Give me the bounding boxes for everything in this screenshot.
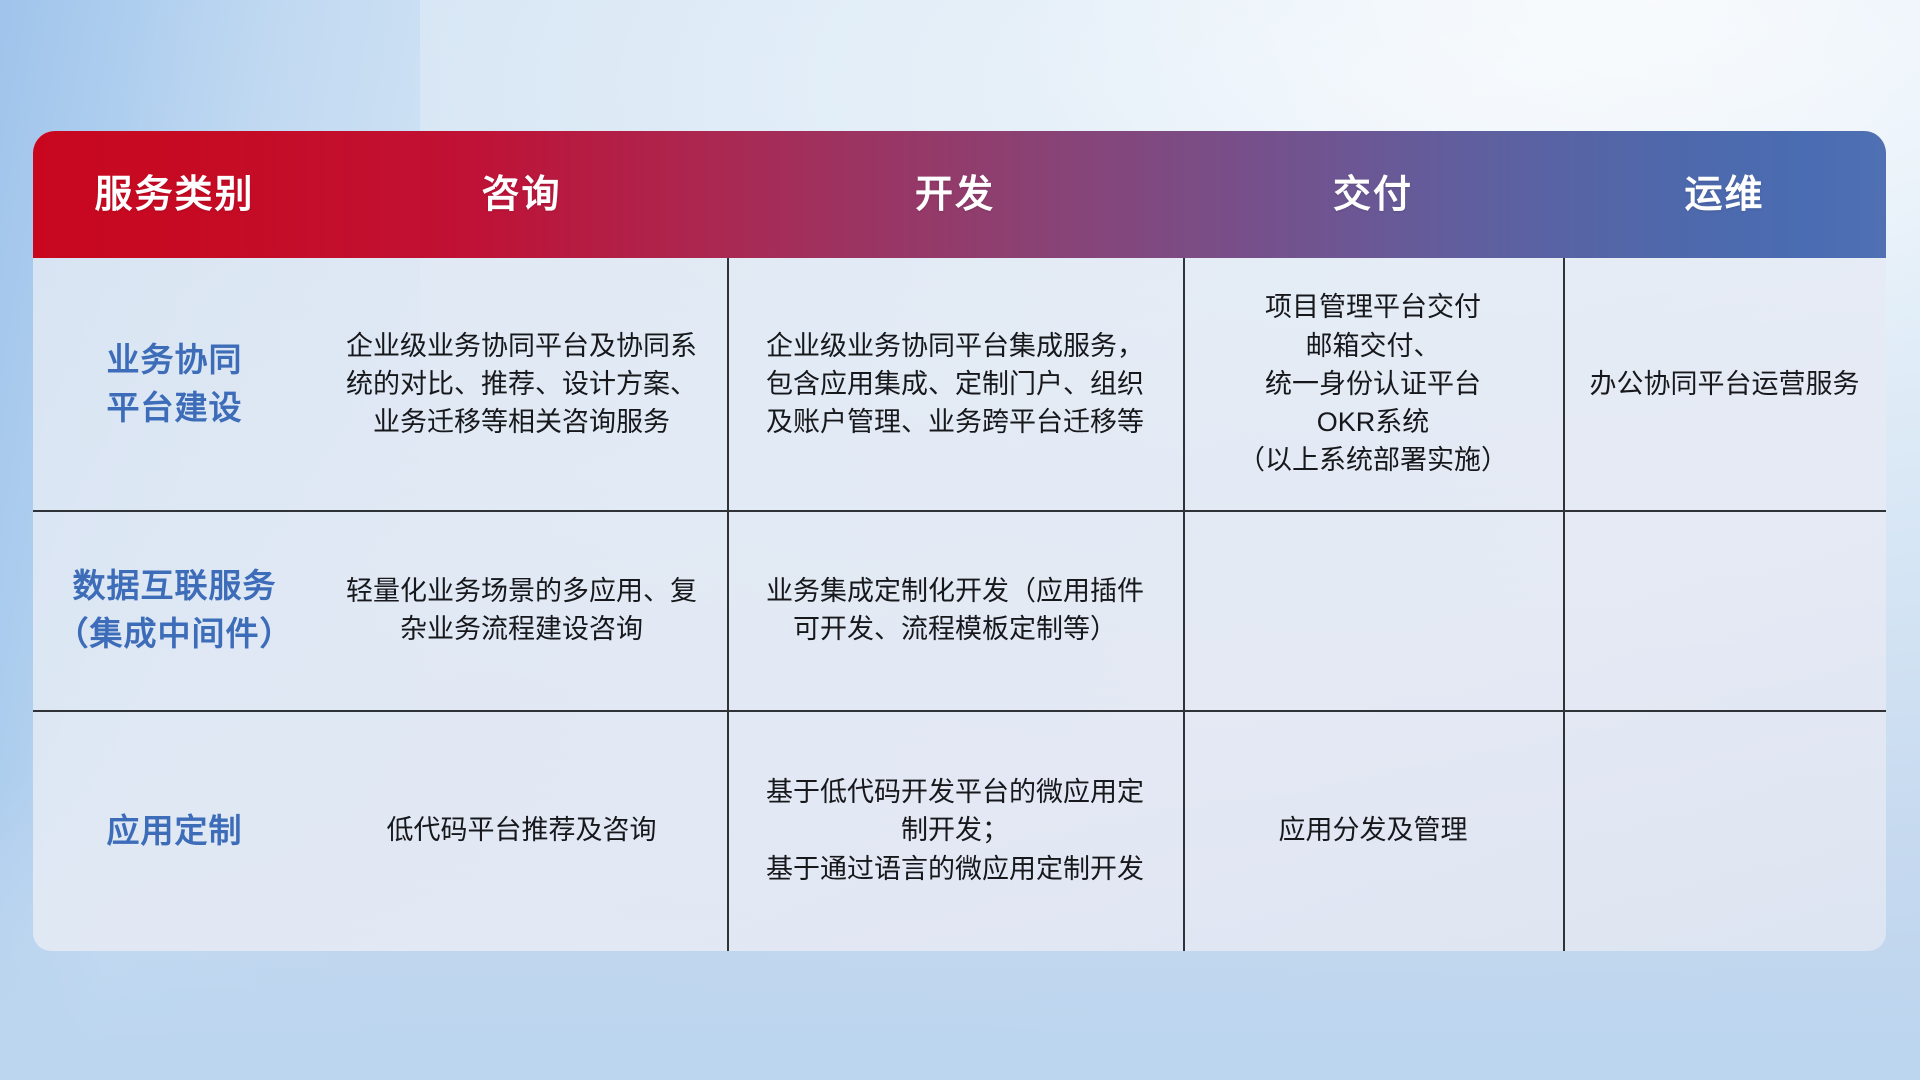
grid-header-spacer bbox=[1183, 131, 1563, 258]
table-row bbox=[1563, 710, 1886, 951]
row-divider bbox=[33, 710, 1886, 712]
table-row: 轻量化业务场景的多应用、复 杂业务流程建设咨询 bbox=[316, 510, 727, 710]
table-row: 办公协同平台运营服务 bbox=[1563, 258, 1886, 510]
table-row: 应用定制 bbox=[33, 710, 316, 951]
table-grid: 业务协同 平台建设 企业级业务协同平台及协同系 统的对比、推荐、设计方案、 业务… bbox=[33, 131, 1886, 951]
service-category-table: 服务类别 咨询 开发 交付 运维 业务协同 平台建设 企业级业务协同平台及协同系… bbox=[33, 131, 1886, 951]
table-row: 应用分发及管理 bbox=[1183, 710, 1563, 951]
table-row: 数据互联服务 （集成中间件） bbox=[33, 510, 316, 710]
table-row: 企业级业务协同平台集成服务， 包含应用集成、定制门户、组织 及账户管理、业务跨平… bbox=[727, 258, 1183, 510]
table-row: 基于低代码开发平台的微应用定 制开发； 基于通过语言的微应用定制开发 bbox=[727, 710, 1183, 951]
column-divider bbox=[727, 258, 729, 951]
table-row: 低代码平台推荐及咨询 bbox=[316, 710, 727, 951]
table-row: 业务协同 平台建设 bbox=[33, 258, 316, 510]
table-row: 企业级业务协同平台及协同系 统的对比、推荐、设计方案、 业务迁移等相关咨询服务 bbox=[316, 258, 727, 510]
column-divider bbox=[1563, 258, 1565, 951]
table-row bbox=[1563, 510, 1886, 710]
row-divider bbox=[33, 510, 1886, 512]
table-row: 项目管理平台交付 邮箱交付、 统一身份认证平台 OKR系统 （以上系统部署实施） bbox=[1183, 258, 1563, 510]
column-divider bbox=[1183, 258, 1185, 951]
grid-header-spacer bbox=[1563, 131, 1886, 258]
grid-header-spacer bbox=[727, 131, 1183, 258]
grid-header-spacer bbox=[316, 131, 727, 258]
table-row: 业务集成定制化开发（应用插件 可开发、流程模板定制等） bbox=[727, 510, 1183, 710]
grid-header-spacer bbox=[33, 131, 316, 258]
table-row bbox=[1183, 510, 1563, 710]
